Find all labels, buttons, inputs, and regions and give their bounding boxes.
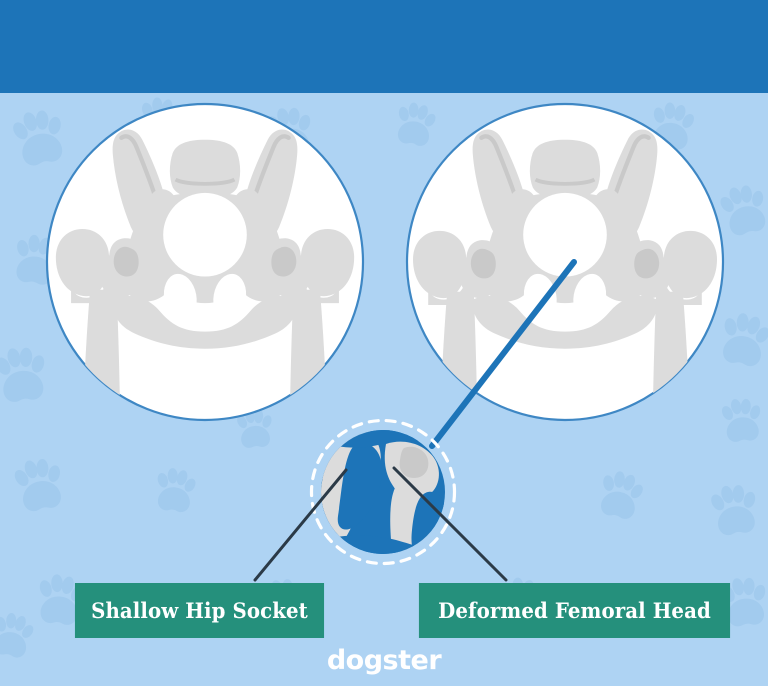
dogster-logo: dogster	[0, 640, 768, 680]
hip-joint-closeup	[279, 418, 455, 566]
header-band	[0, 0, 768, 93]
normal-hip-diagram	[47, 104, 363, 482]
label-deformed-femoral-head: Deformed Femoral Head	[419, 583, 730, 638]
infographic-root: HIP DYSPLASIA IN DOGS Shallow Hip Socket…	[0, 0, 768, 686]
dysplastic-hip-diagram	[407, 104, 723, 484]
label-shallow-hip-socket: Shallow Hip Socket	[75, 583, 324, 638]
